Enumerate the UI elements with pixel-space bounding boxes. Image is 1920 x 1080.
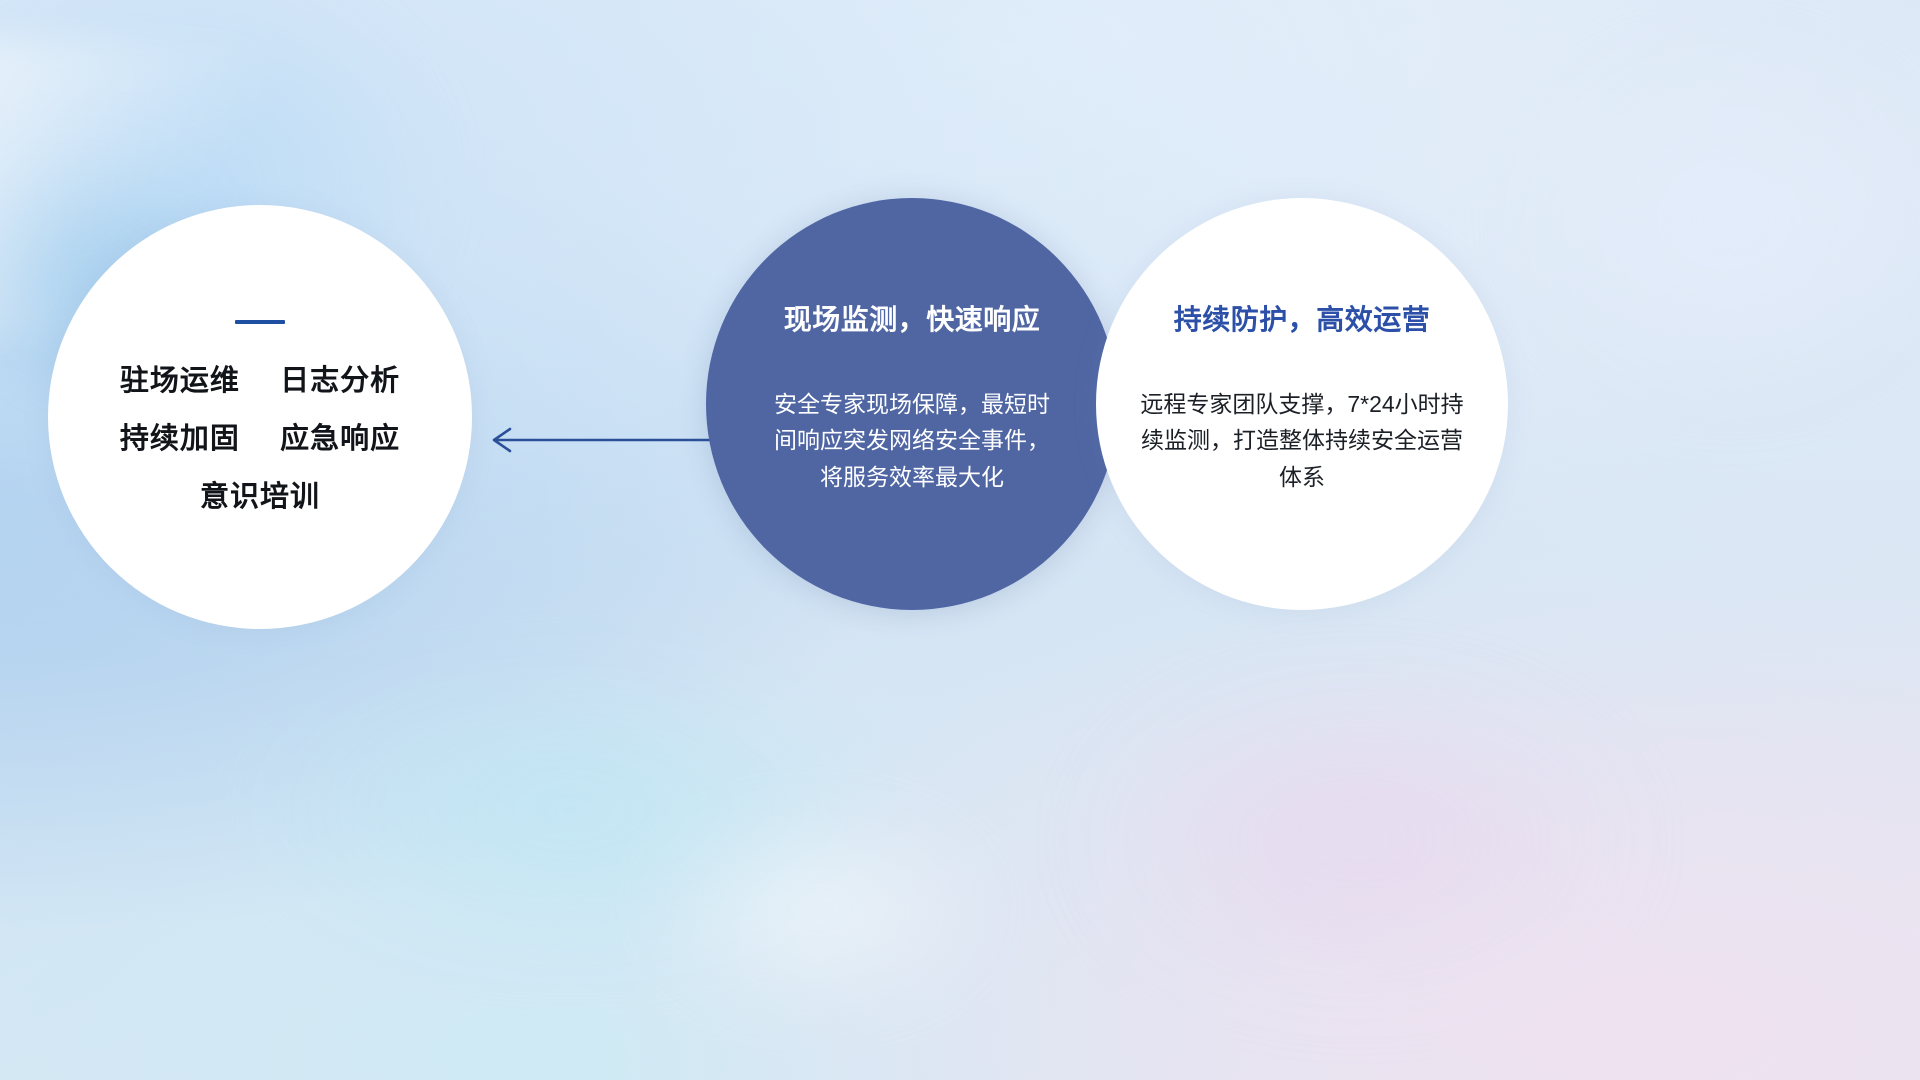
- background-glow-bottom-right: [980, 620, 1740, 1060]
- onsite-monitoring-content: 现场监测，快速响应 安全专家现场保障，最短时间响应突发网络安全事件，将服务效率最…: [706, 198, 1118, 610]
- flow-arrow-left: [480, 415, 720, 465]
- capability-item-1: 驻场运维: [120, 365, 240, 397]
- capability-item-2: 日志分析: [280, 365, 400, 397]
- capability-row: 意识培训: [120, 483, 400, 512]
- capabilities-list: 驻场运维 日志分析 持续加固 应急响应 意识培训: [120, 367, 400, 512]
- slide-canvas: 驻场运维 日志分析 持续加固 应急响应 意识培训 现: [0, 0, 1920, 1080]
- onsite-monitoring-title: 现场监测，快速响应: [784, 298, 1041, 338]
- onsite-monitoring-body: 安全专家现场保障，最短时间响应突发网络安全事件，将服务效率最大化: [770, 386, 1055, 495]
- capability-item-5: 意识培训: [200, 481, 320, 513]
- capability-item-3: 持续加固: [120, 423, 240, 455]
- capability-item-4: 应急响应: [280, 423, 400, 455]
- capability-row: 持续加固 应急响应: [120, 425, 400, 454]
- continuous-protection-circle[interactable]: 持续防护，高效运营 远程专家团队支撑，7*24小时持续监测，打造整体持续安全运营…: [1096, 198, 1508, 610]
- continuous-protection-content: 持续防护，高效运营 远程专家团队支撑，7*24小时持续监测，打造整体持续安全运营…: [1096, 198, 1508, 610]
- arrow-icon: [480, 415, 720, 465]
- capabilities-circle-content: 驻场运维 日志分析 持续加固 应急响应 意识培训: [48, 205, 472, 629]
- continuous-protection-title: 持续防护，高效运营: [1174, 298, 1431, 338]
- onsite-monitoring-circle[interactable]: 现场监测，快速响应 安全专家现场保障，最短时间响应突发网络安全事件，将服务效率最…: [706, 198, 1118, 610]
- capability-row: 驻场运维 日志分析: [120, 367, 400, 396]
- background-glow-center: [560, 760, 1080, 1060]
- capabilities-circle[interactable]: 驻场运维 日志分析 持续加固 应急响应 意识培训: [48, 205, 472, 629]
- divider-line-icon: [235, 320, 285, 324]
- continuous-protection-body: 远程专家团队支撑，7*24小时持续监测，打造整体持续安全运营体系: [1137, 386, 1467, 495]
